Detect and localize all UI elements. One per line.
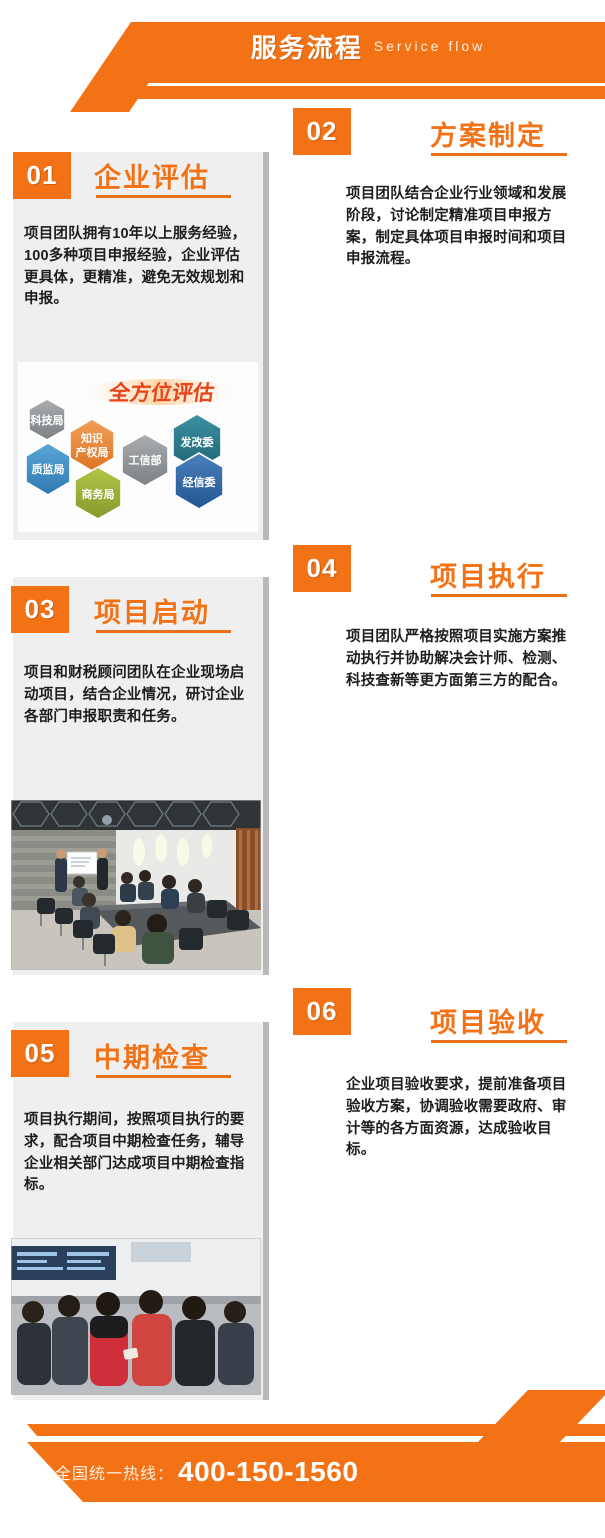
card-shadow: [262, 1022, 269, 1400]
step-number-badge: 01: [13, 152, 71, 199]
hexagon-diagram-svg: 全方位评估 科技局 知识 产权局: [18, 362, 258, 532]
step-number-badge: 03: [11, 586, 69, 633]
step-description: 企业项目验收要求，提前准备项目验收方案，协调验收需要政府、审计等的各方面资源，达…: [346, 1075, 574, 1162]
svg-text:质监局: 质监局: [32, 462, 65, 476]
step-card-01: 01 企业评估 项目团队拥有10年以上服务经验，100多种项目申报经验，企业评估…: [0, 140, 270, 540]
title-underline: [96, 630, 231, 633]
step-description: 项目团队严格按照项目实施方案推动执行并协助解决会计师、检测、科技查新等更方面第三…: [346, 627, 574, 692]
svg-text:商务局: 商务局: [82, 487, 115, 501]
step-title: 项目验收: [430, 1001, 546, 1040]
title-underline: [431, 1040, 567, 1043]
title-underline: [431, 153, 567, 156]
step-card-06: 06 项目验收 企业项目验收要求，提前准备项目验收方案，协调验收需要政府、审计等…: [290, 985, 605, 1385]
step-description: 项目团队结合企业行业领域和发展阶段，讨论制定精准项目申报方案，制定具体项目申报时…: [346, 184, 574, 271]
photo-site-visit: [11, 1238, 261, 1395]
step-title: 项目执行: [430, 555, 546, 594]
media-photo-midterm-check: [11, 1238, 261, 1395]
step-card-02: 02 方案制定 项目团队结合企业行业领域和发展阶段，讨论制定精准项目申报方案，制…: [290, 96, 605, 536]
step-card-04: 04 项目执行 项目团队严格按照项目实施方案推动执行并协助解决会计师、检测、科技…: [290, 545, 605, 975]
svg-text:工信部: 工信部: [129, 453, 162, 467]
hotline-group: 全国统一热线： 400-150-1560: [55, 1442, 358, 1502]
step-description: 项目执行期间，按照项目执行的要求，配合项目中期检查任务，辅导企业相关部门达成项目…: [24, 1110, 252, 1197]
svg-text:经信委: 经信委: [183, 475, 217, 489]
step-title: 项目启动: [94, 591, 210, 630]
step-title: 中期检查: [94, 1036, 210, 1075]
svg-text:产权局: 产权局: [76, 445, 109, 459]
step-description: 项目和财税顾问团队在企业现场启动项目，结合企业情况，研讨企业各部门申报职责和任务…: [24, 663, 252, 728]
svg-text:发改委: 发改委: [180, 435, 215, 449]
media-photo-project-kickoff: [11, 800, 261, 970]
card-shadow: [262, 577, 269, 975]
header-stripe-upper: [120, 70, 605, 83]
photo-meeting-room-kickoff: [11, 800, 261, 970]
hotline-number[interactable]: 400-150-1560: [178, 1456, 358, 1488]
step-number-badge: 04: [293, 545, 351, 592]
page-title: 服务流程: [251, 28, 363, 65]
step-card-03: 03 项目启动 项目和财税顾问团队在企业现场启动项目，结合企业情况，研讨企业各部…: [0, 555, 270, 975]
title-underline: [431, 594, 567, 597]
page-subtitle: Service flow: [374, 38, 485, 54]
step-number-badge: 05: [11, 1030, 69, 1077]
step-description: 项目团队拥有10年以上服务经验，100多种项目申报经验，企业评估更具体，更精准，…: [24, 224, 252, 311]
page-footer: 全国统一热线： 400-150-1560: [0, 1424, 605, 1538]
step-title: 方案制定: [430, 114, 546, 153]
hotline-label: 全国统一热线：: [55, 1460, 174, 1484]
step-card-05: 05 中期检查 项目执行期间，按照项目执行的要求，配合项目中期检查任务，辅导企业…: [0, 1000, 270, 1400]
svg-text:科技局: 科技局: [31, 413, 64, 427]
header-title-group: 服务流程 Service flow: [131, 22, 605, 70]
step-number-badge: 06: [293, 988, 351, 1035]
title-underline: [96, 195, 231, 198]
title-underline: [96, 1075, 231, 1078]
step-title: 企业评估: [94, 156, 210, 195]
media-hexagon-diagram: 全方位评估 科技局 知识 产权局: [18, 362, 258, 532]
card-shadow: [262, 152, 269, 540]
svg-text:全方位评估: 全方位评估: [106, 380, 215, 405]
step-number-badge: 02: [293, 108, 351, 155]
svg-text:知识: 知识: [80, 431, 103, 445]
